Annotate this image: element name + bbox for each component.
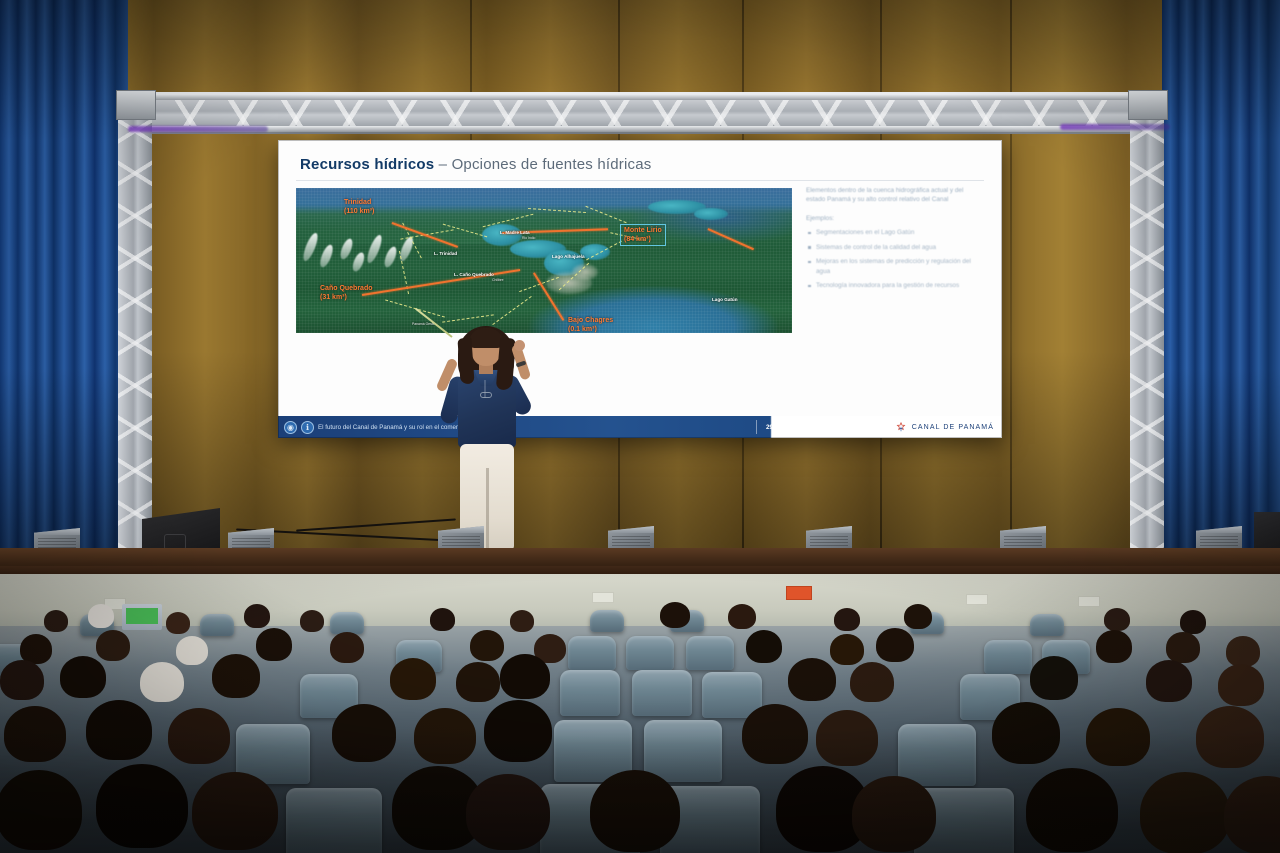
callout-volume: (31 km³) (320, 293, 373, 302)
map-callout-trinidad: Trinidad (110 km³) (344, 198, 374, 216)
map-label-alhajuela: Lago Alhajuela (552, 254, 585, 260)
callout-volume: (110 km³) (344, 207, 374, 216)
map-label-gatun: Lago Gatún (712, 297, 738, 303)
side-curtain-right (1162, 0, 1280, 566)
truss-rail-bottom (118, 126, 1164, 132)
audience-area (0, 574, 1280, 853)
map-minor-label: Rio Indio (522, 236, 535, 241)
laptop-device (122, 604, 162, 630)
callout-name: Monte Lirio (624, 226, 662, 235)
truss-corner-joint-right (1128, 90, 1168, 120)
truss-vertical-right (1130, 92, 1164, 566)
slide-title-subtitle: – Opciones de fuentes hídricas (439, 156, 652, 173)
slide-bullet-item: Segmentaciones en el Lago Gatún (806, 228, 984, 237)
map-label-trinidad: L. Trinidad (434, 251, 457, 257)
slide-paragraph: Elementos dentro de la cuenca hidrográfi… (806, 186, 984, 204)
wall-placard (592, 592, 614, 603)
map-lake (694, 208, 728, 220)
footer-divider (756, 420, 757, 434)
slide-title: Recursos hídricos – Opciones de fuentes … (300, 156, 651, 173)
callout-name: Caño Quebrado (320, 284, 373, 293)
map-callout-bajo-chagres: Bajo Chagres (0.1 km³) (568, 316, 613, 333)
callout-volume: (0.1 km³) (568, 325, 613, 333)
curtain-fold (1010, 0, 1012, 566)
callout-name: Bajo Chagres (568, 316, 613, 325)
title-divider (296, 180, 984, 181)
wall-placard (966, 594, 988, 605)
map-callout-monte-lirio: Monte Lirio (84 km³) (620, 224, 666, 246)
truss-corner-joint-left (116, 90, 156, 120)
slide-bullet-list: Segmentaciones en el Lago Gatún Sistemas… (806, 228, 984, 290)
projection-screen: Recursos hídricos – Opciones de fuentes … (278, 140, 1002, 438)
brand-name: CANAL DE PANAMÁ (912, 424, 994, 431)
slide-bullet-item: Tecnología innovadora para la gestión de… (806, 281, 984, 290)
wall-placard (1078, 596, 1100, 607)
slide-footer-brand: CANAL DE PANAMÁ (895, 416, 994, 438)
map-minor-label: Chilibre (492, 278, 504, 283)
side-curtain-left (0, 0, 128, 566)
slide-body-text: Elementos dentro de la cuenca hidrográfi… (806, 186, 984, 295)
canal-de-panama-logo-icon (895, 421, 907, 433)
presenter-glasses (480, 392, 492, 398)
truss-vertical-left (118, 92, 152, 566)
info-icon: ℹ (301, 421, 314, 434)
truss-lattice (1130, 92, 1164, 566)
satellite-map-image: Trinidad (110 km³) Caño Quebrado (31 km³… (296, 188, 792, 333)
slide-footer-bar: ◉ ℹ El futuro del Canal de Panamá y su r… (278, 416, 1002, 438)
slide-title-main: Recursos hídricos (300, 156, 434, 173)
auditorium-scene: Recursos hídricos – Opciones de fuentes … (0, 0, 1280, 853)
slide-footer-date: 29 de junio de 2023 (766, 416, 825, 438)
slide-bullet-item: Sistemas de control de la calidad del ag… (806, 243, 984, 252)
presenter-figure (432, 318, 548, 562)
slide-list-heading: Ejemplos: (806, 215, 984, 222)
wall-exit-sign (786, 586, 812, 600)
presenter-leg-seam (486, 468, 489, 550)
presenter-hair-front (469, 328, 503, 348)
laptop-screen (126, 608, 158, 624)
stage-light-glow (1060, 124, 1170, 130)
globe-icon: ◉ (284, 421, 297, 434)
callout-volume: (84 km³) (624, 235, 662, 244)
callout-name: Trinidad (344, 198, 374, 207)
slide-bullet-item: Mejoras en los sistemas de predicción y … (806, 257, 984, 276)
truss-lattice (118, 92, 152, 566)
truss-rail-top (118, 94, 1164, 100)
presentation-slide: Recursos hídricos – Opciones de fuentes … (278, 140, 1002, 438)
map-label-cano-quebrado: L. Caño Quebrado (454, 272, 494, 278)
truss-horizontal-beam (118, 92, 1164, 134)
presenter-hand-right (514, 340, 525, 351)
map-callout-cano-quebrado: Caño Quebrado (31 km³) (320, 284, 373, 302)
stage-light-glow (128, 126, 268, 132)
